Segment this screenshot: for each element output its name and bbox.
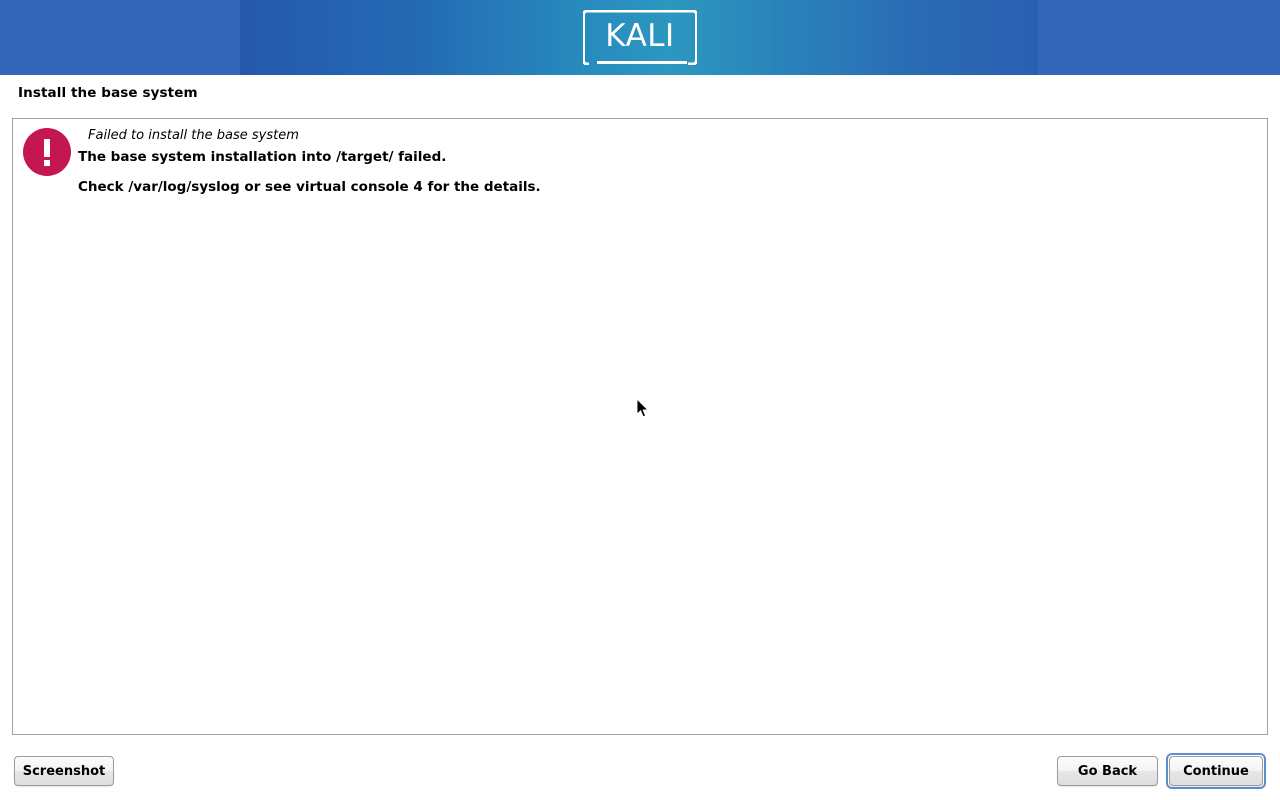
error-heading: Failed to install the base system xyxy=(88,127,1178,145)
error-detail-line-2: Check /var/log/syslog or see virtual con… xyxy=(78,177,1178,197)
continue-button[interactable]: Continue xyxy=(1169,756,1263,786)
kali-logo: KALI xyxy=(583,10,697,65)
content-panel: Failed to install the base system The ba… xyxy=(12,118,1268,735)
error-icon-stem xyxy=(44,139,50,157)
screenshot-button[interactable]: Screenshot xyxy=(14,756,114,786)
error-detail-line-1: The base system installation into /targe… xyxy=(78,147,1178,167)
error-message-block: Failed to install the base system The ba… xyxy=(78,127,1178,197)
kali-logo-text: KALI xyxy=(583,10,697,65)
page-title: Install the base system xyxy=(18,85,198,101)
header-banner: KALI xyxy=(0,0,1280,75)
error-icon-dot xyxy=(44,160,50,166)
installer-screen: KALI Install the base system Failed to i… xyxy=(0,0,1280,800)
continue-button-focus-ring[interactable]: Continue xyxy=(1166,753,1266,789)
go-back-button[interactable]: Go Back xyxy=(1057,756,1158,786)
error-exclamation-icon xyxy=(23,128,71,176)
